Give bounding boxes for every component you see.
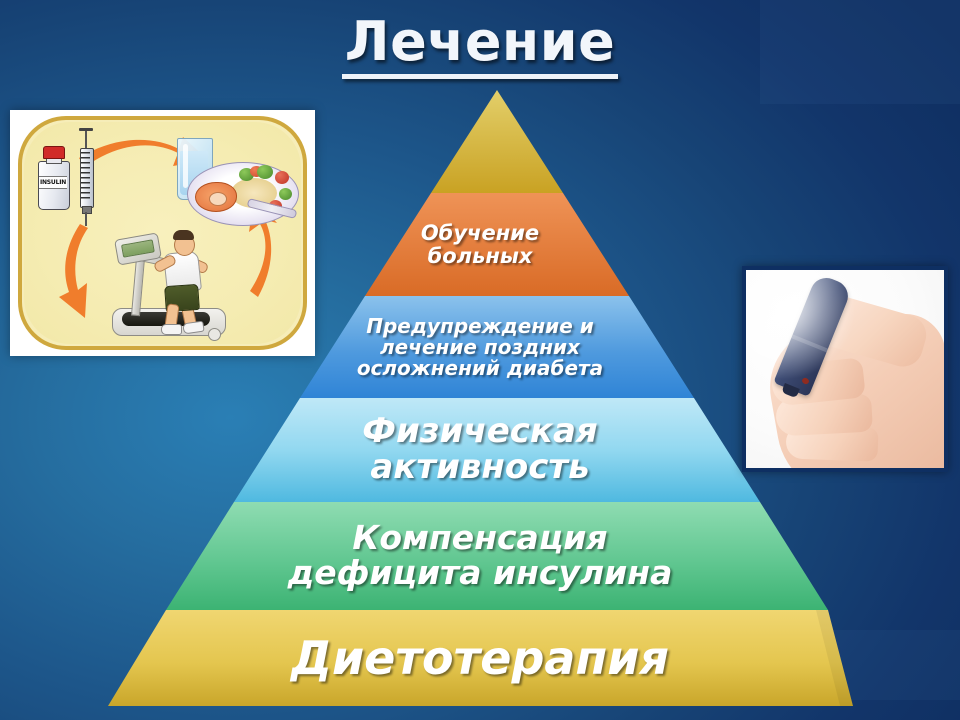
diet-line-1: Диетотерапия <box>291 634 669 682</box>
runner-figure <box>150 230 220 334</box>
vial-label-text: INSULIN <box>39 176 67 189</box>
glucose-lancet-fingerprick-photo[interactable] <box>742 266 948 472</box>
pyramid-level-diet-therapy[interactable]: Диетотерапия <box>0 610 960 706</box>
plate-vegetable-2 <box>257 165 273 179</box>
page-title-text: Лечение <box>339 14 621 73</box>
pyramid-insulin-label: Компенсация дефицита инсулина <box>0 502 960 610</box>
syringe-hub <box>82 206 92 214</box>
diabetes-management-cycle-illustration[interactable]: INSULIN <box>10 110 315 356</box>
syringe-gradations <box>81 152 90 202</box>
insulin-vial-icon: INSULIN <box>38 146 68 208</box>
plate-vegetable-3 <box>275 171 289 184</box>
vial-body: INSULIN <box>38 161 70 210</box>
plate-fish <box>195 182 237 212</box>
syringe-needle <box>85 212 87 226</box>
complications-line-2: лечение поздних <box>357 337 603 358</box>
syringe-icon <box>78 128 94 226</box>
plate-fish-center <box>209 192 227 206</box>
pyramid-diet-label: Диетотерапия <box>0 610 960 706</box>
slide-canvas: Лечение <box>0 0 960 720</box>
page-title: Лечение <box>0 14 960 79</box>
photo-content <box>746 270 944 468</box>
arrow-left-down-icon <box>59 224 88 318</box>
illustration-frame: INSULIN <box>18 116 307 350</box>
insulin-line-1: Компенсация <box>288 521 673 556</box>
runner-back-shoe <box>182 321 204 335</box>
pyramid-level-insulin-compensation[interactable]: Компенсация дефицита инсулина <box>0 502 960 610</box>
activity-line-2: активность <box>362 450 598 486</box>
treadmill-runner-icon <box>108 224 233 344</box>
vial-cap <box>43 146 65 159</box>
education-line-2: больных <box>421 245 539 267</box>
photo-highlight <box>746 270 856 380</box>
runner-front-shoe <box>161 324 182 335</box>
runner-hair <box>173 230 194 240</box>
plate-vegetable-5 <box>279 188 292 200</box>
activity-line-1: Физическая <box>362 414 598 450</box>
insulin-line-2: дефицита инсулина <box>288 556 673 591</box>
complications-line-1: Предупреждение и <box>357 316 603 337</box>
complications-line-3: осложнений диабета <box>357 358 603 379</box>
education-line-1: Обучение <box>421 222 539 244</box>
syringe-plunger-top <box>79 128 93 131</box>
healthy-meal-plate-icon <box>187 162 297 224</box>
title-underline <box>342 74 618 79</box>
